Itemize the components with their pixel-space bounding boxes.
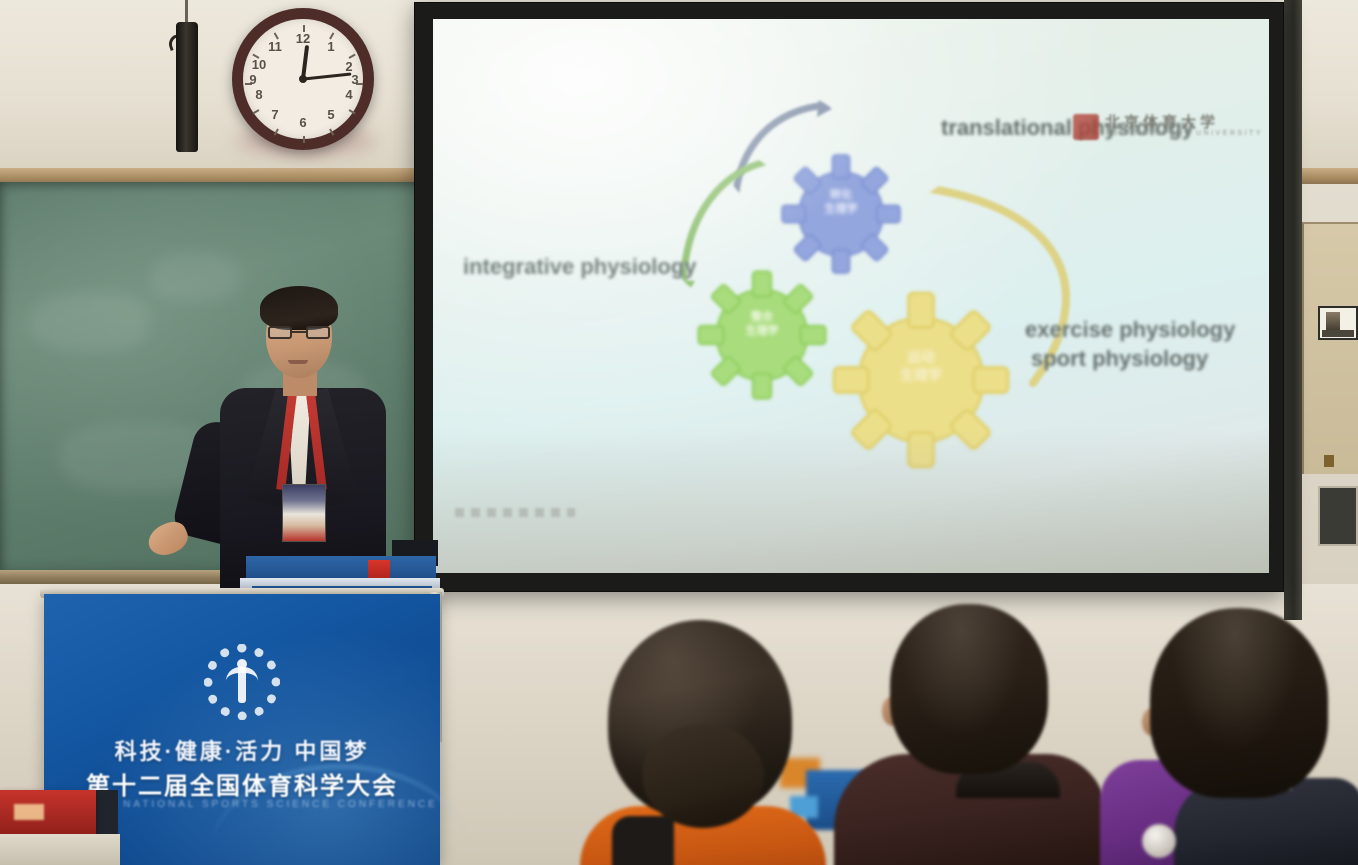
conference-name-badge [282, 484, 326, 542]
framed-notice-sign [1318, 306, 1358, 340]
sports-science-society-emblem [204, 644, 280, 720]
clock-numeral: 11 [267, 39, 283, 54]
clock-numeral: 10 [251, 57, 267, 72]
sign-photo [1326, 312, 1340, 332]
gear-blue-label: 转化生理学 [775, 189, 907, 217]
clock-numeral: 1 [323, 39, 339, 54]
wall-mounted-speaker [176, 22, 198, 152]
clock-center-pin [299, 75, 307, 83]
presenter-hair [260, 286, 338, 330]
gear-green: 整合生理学 [691, 267, 833, 403]
clock-numeral: 6 [295, 115, 311, 130]
gear-yellow: 运动生理学 [825, 287, 1017, 473]
wall-small-box [1324, 455, 1334, 467]
clock-minute-hand [303, 72, 351, 80]
wall-pillar [1284, 0, 1302, 620]
gear-yellow-label: 运动生理学 [825, 349, 1017, 384]
audience-right-hair [1150, 608, 1328, 798]
audience-member-center [860, 604, 1090, 865]
audience-right-button [1142, 824, 1176, 858]
gear-blue: 转化生理学 [775, 151, 907, 277]
projection-screen-frame: 转化生理学 [414, 2, 1284, 592]
clock-numeral: 7 [267, 107, 283, 122]
glasses-icon [268, 326, 330, 339]
booklet-cover-mark [14, 804, 44, 820]
slide-footer-marks [455, 508, 575, 517]
audience-member-right [1104, 608, 1358, 865]
emblem-figure [238, 667, 246, 703]
audience-member-left [598, 620, 808, 865]
clock-numeral: 4 [341, 87, 357, 102]
projection-screen-surface: 转化生理学 [433, 19, 1269, 573]
university-logo: 北京体育大学 BEIJING SPORT UNIVERSITY [1073, 111, 1253, 145]
university-logo-english: BEIJING SPORT UNIVERSITY [1106, 130, 1263, 137]
audience-center-hair [890, 604, 1048, 774]
photo-scene: 12 1 2 3 4 5 6 7 8 9 10 11 [0, 0, 1358, 865]
sign-caption-bar [1322, 330, 1354, 337]
wall-clock: 12 1 2 3 4 5 6 7 8 9 10 11 [232, 8, 374, 150]
lectern-top [246, 556, 436, 580]
university-logo-chinese: 北京体育大学 [1105, 111, 1219, 132]
slide-label-exercise: exercise physiology [1025, 317, 1235, 343]
wall-equipment-box [1318, 486, 1358, 546]
clock-numeral: 9 [245, 72, 261, 87]
slide-label-sport: sport physiology [1031, 346, 1208, 372]
gear-green-label: 整合生理学 [691, 311, 833, 339]
presenter-mouth [288, 360, 308, 364]
university-emblem-icon [1073, 114, 1099, 140]
audience-left-collar [612, 816, 674, 865]
right-wall-panel [1302, 222, 1358, 474]
slide-label-integrative: integrative physiology [463, 254, 697, 280]
side-table-surface [0, 834, 120, 865]
clock-numeral: 5 [323, 107, 339, 122]
banner-slogan: 科技·健康·活力 中国梦 [44, 734, 440, 766]
clock-numeral: 8 [251, 87, 267, 102]
side-table-with-booklet [0, 790, 96, 838]
clock-numeral: 12 [295, 31, 311, 46]
audience-left-hair-bun [642, 724, 764, 828]
